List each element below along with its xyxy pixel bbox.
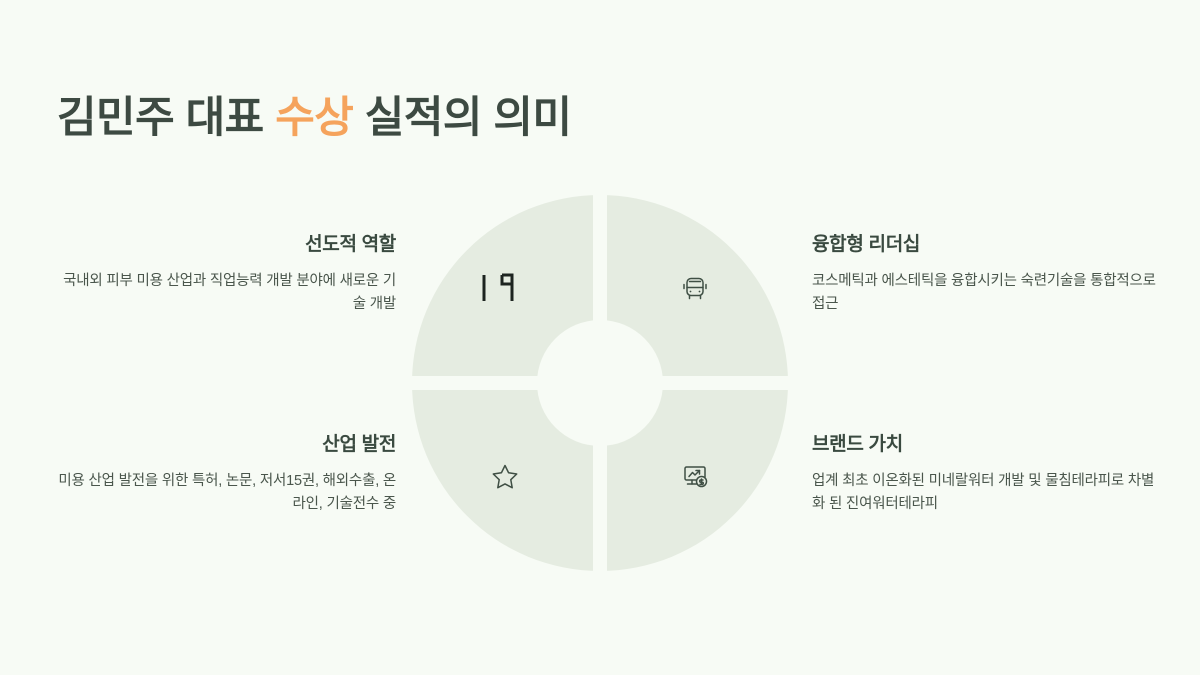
star-outline-icon <box>488 460 522 494</box>
block-bottom-left-body: 미용 산업 발전을 위한 특허, 논문, 저서15권, 해외수출, 온라인, 기… <box>51 470 396 517</box>
block-top-left-heading: 선도적 역할 <box>51 233 396 258</box>
block-top-right-heading: 융합형 리더십 <box>812 233 1157 258</box>
partial-glyph-mark-icon <box>472 265 528 311</box>
block-top-right: 융합형 리더십 코스메틱과 에스테틱을 융합시키는 숙련기술을 통합적으로 접근 <box>812 233 1157 317</box>
monitor-growth-dollar-icon <box>678 460 712 494</box>
page-title-accent: 수상 <box>275 94 353 142</box>
slide-canvas: 김민주 대표 수상 실적의 의미 선도적 역할 국내외 피부 미용 산업과 직업… <box>0 0 1200 675</box>
block-bottom-left-heading: 산업 발전 <box>51 433 396 458</box>
donut-diagram <box>412 195 788 571</box>
page-title: 김민주 대표 수상 실적의 의미 <box>57 94 572 143</box>
block-top-right-body: 코스메틱과 에스테틱을 융합시키는 숙련기술을 통합적으로 접근 <box>812 270 1157 317</box>
block-top-left: 선도적 역할 국내외 피부 미용 산업과 직업능력 개발 분야에 새로운 기술 … <box>51 233 396 317</box>
page-title-before: 김민주 대표 <box>57 94 275 142</box>
block-bottom-right-heading: 브랜드 가치 <box>812 433 1157 458</box>
block-bottom-right: 브랜드 가치 업계 최초 이온화된 미네랄워터 개발 및 물침테라피로 차별화 … <box>812 433 1157 517</box>
page-title-after: 실적의 의미 <box>353 94 571 142</box>
block-top-left-body: 국내외 피부 미용 산업과 직업능력 개발 분야에 새로운 기술 개발 <box>51 270 396 317</box>
block-bottom-right-body: 업계 최초 이온화된 미네랄워터 개발 및 물침테라피로 차별화 된 진여워터테… <box>812 470 1157 517</box>
block-bottom-left: 산업 발전 미용 산업 발전을 위한 특허, 논문, 저서15권, 해외수출, … <box>51 433 396 517</box>
bus-front-icon <box>678 272 712 306</box>
